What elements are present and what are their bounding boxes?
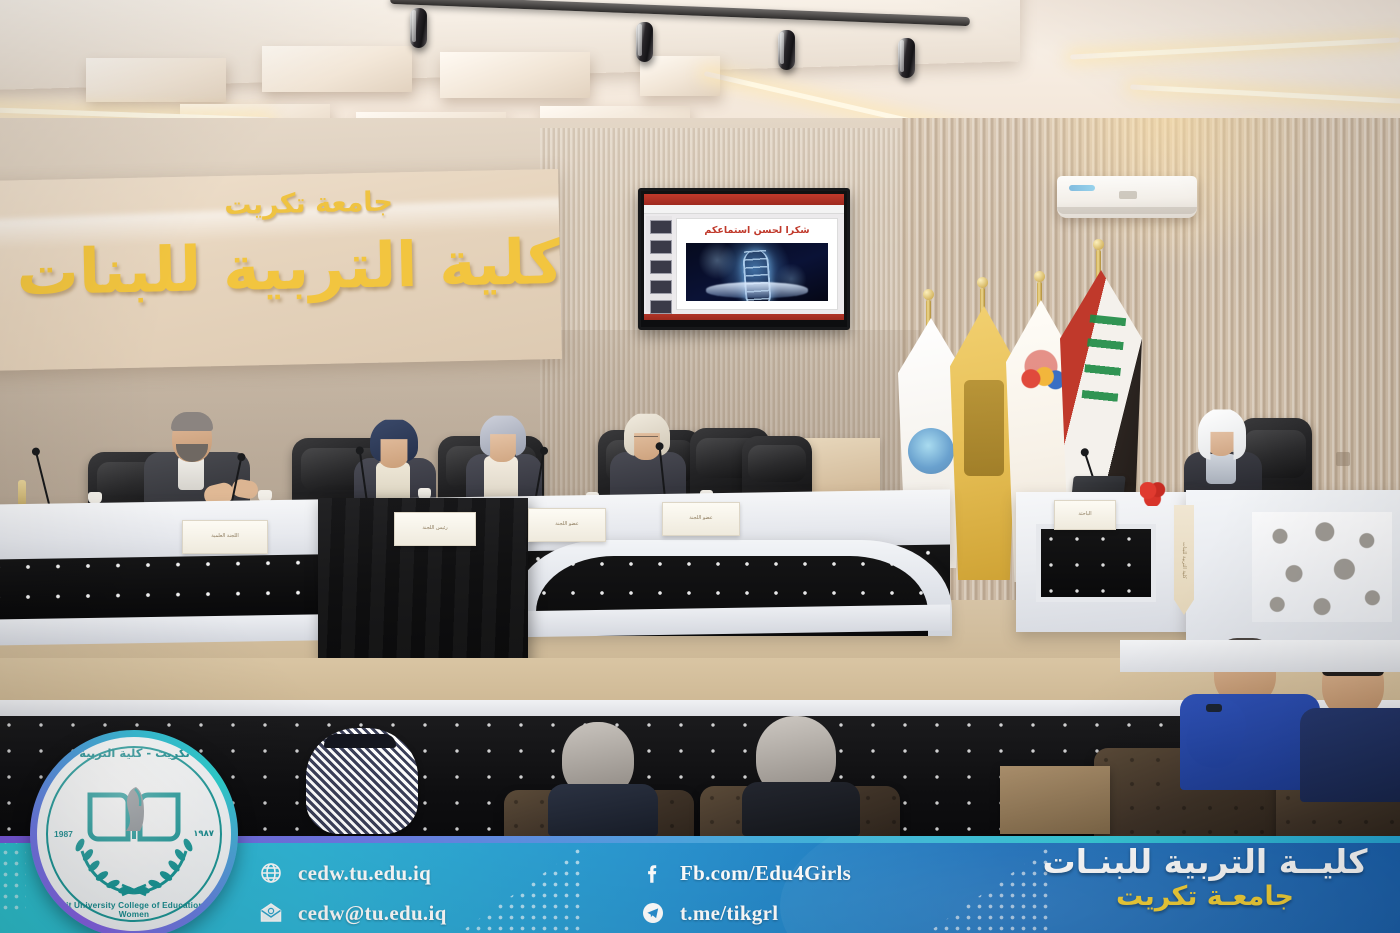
seal-english-text: Tikrit University College of Education f… bbox=[37, 901, 231, 919]
nameplate: عضو اللجنة bbox=[662, 502, 740, 536]
nameplate-text: اللجنة العلمية bbox=[211, 533, 239, 541]
brand-university-name: جامعـة تكريت bbox=[1030, 881, 1380, 912]
contact-email[interactable]: cedw@tu.edu.iq bbox=[258, 900, 447, 926]
water-bottle bbox=[18, 480, 26, 506]
cove-light-strip bbox=[1130, 84, 1400, 104]
slide-thumbnail bbox=[650, 260, 672, 274]
slide-app-ribbon bbox=[644, 194, 844, 205]
contact-column-social: Fb.com/Edu4Girls t.me/tikgrl bbox=[640, 860, 851, 926]
back-shelf bbox=[1120, 640, 1400, 672]
nameplate: اللجنة العلمية bbox=[182, 520, 268, 554]
projector-screen: شكرا لحسن استماعكم bbox=[638, 188, 850, 330]
flag-emblem-tikrit bbox=[964, 380, 1004, 476]
contact-facebook[interactable]: Fb.com/Edu4Girls bbox=[640, 860, 851, 886]
arabesque-cutwork-panel bbox=[1252, 512, 1392, 622]
photograph-canvas: جامعة تكريت كلية التربية للبنات شكرا لحس… bbox=[0, 0, 1400, 933]
attendee-suit-jacket bbox=[1300, 708, 1400, 802]
slide-title: شكرا لحسن استماعكم bbox=[677, 225, 837, 236]
email-address: cedw@tu.edu.iq bbox=[298, 901, 447, 926]
telegram-handle: t.me/tikgrl bbox=[680, 901, 778, 926]
ceiling bbox=[0, 0, 1400, 130]
footer-dot-pattern-left bbox=[462, 846, 582, 931]
ac-brand-badge bbox=[1119, 191, 1137, 199]
attendee-shoulders bbox=[548, 784, 658, 836]
keffiyeh-cord bbox=[324, 734, 396, 748]
active-slide: شكرا لحسن استماعكم bbox=[676, 218, 838, 310]
contact-telegram[interactable]: t.me/tikgrl bbox=[640, 900, 851, 926]
college-seal-logo: جامعة تكريت - كلية التربية للبنات Tikrit… bbox=[30, 730, 238, 933]
podium-studded-panel bbox=[1036, 524, 1156, 602]
email-icon bbox=[258, 900, 284, 926]
presentation-slide: شكرا لحسن استماعكم bbox=[644, 194, 844, 324]
hand-shape bbox=[706, 282, 808, 297]
slide-dna-image bbox=[686, 243, 828, 301]
wristwatch-icon bbox=[1206, 704, 1222, 712]
footer-brand: كليــة التربية للبنـات جامعـة تكريت bbox=[1030, 844, 1380, 912]
attendee-shoulders bbox=[742, 782, 860, 836]
brand-college-name: كليــة التربية للبنـات bbox=[1030, 844, 1380, 881]
nameplate-podium: الباحثة bbox=[1054, 500, 1116, 530]
wall-banner: جامعة تكريت كلية التربية للبنات bbox=[0, 169, 562, 371]
ac-display bbox=[1069, 185, 1095, 191]
spotlight bbox=[636, 22, 653, 62]
wall-socket bbox=[1336, 452, 1350, 466]
screen-bezel bbox=[641, 320, 847, 327]
nameplate-text: عضو اللجنة bbox=[689, 515, 712, 523]
banner-line-2: كلية التربية للبنات bbox=[0, 224, 562, 310]
globe-icon bbox=[258, 860, 284, 886]
laurel-wreath-icon bbox=[66, 821, 202, 899]
nameplate-text: الباحثة bbox=[1078, 511, 1091, 519]
presenter-collar bbox=[1206, 454, 1236, 484]
footer-dot-pattern-edge bbox=[0, 836, 26, 916]
seal-arabic-text: جامعة تكريت - كلية التربية للبنات bbox=[37, 746, 231, 760]
slide-app-toolbar bbox=[644, 205, 844, 214]
air-conditioner-unit bbox=[1057, 176, 1197, 218]
panelist-hair bbox=[171, 412, 213, 431]
seal-inner: جامعة تكريت - كلية التربية للبنات Tikrit… bbox=[37, 737, 231, 931]
ceiling-block bbox=[440, 52, 590, 98]
slide-thumbnail bbox=[650, 280, 672, 294]
ceiling-block bbox=[86, 58, 226, 102]
facebook-icon bbox=[640, 860, 666, 886]
spotlight bbox=[778, 30, 795, 70]
website-url: cedw.tu.edu.iq bbox=[298, 861, 431, 886]
eyeglasses-icon bbox=[634, 436, 658, 442]
spotlight bbox=[898, 38, 915, 78]
slide-thumbnail bbox=[650, 220, 672, 234]
attendee-blue-suit-2 bbox=[1300, 650, 1400, 800]
slide-thumbnail bbox=[650, 300, 672, 314]
audience-side-table bbox=[1000, 766, 1110, 834]
contact-column-web: cedw.tu.edu.iq cedw@tu.edu.iq bbox=[258, 860, 447, 926]
attendee-keffiyeh bbox=[300, 728, 430, 838]
spotlight bbox=[410, 8, 427, 48]
slide-thumbnail-rail bbox=[646, 216, 672, 312]
slide-thumbnail bbox=[650, 240, 672, 254]
nameplate-text: عضو اللجنة bbox=[555, 521, 578, 529]
podium-ribbon-label: كلية التربية للبنات bbox=[1174, 505, 1194, 615]
attendee-gray-haired-1 bbox=[548, 722, 658, 834]
podium-ribbon-text: كلية التربية للبنات bbox=[1181, 542, 1187, 579]
facebook-handle: Fb.com/Edu4Girls bbox=[680, 861, 851, 886]
attendee-gray-haired-2 bbox=[742, 716, 860, 834]
ceiling-block bbox=[262, 46, 412, 92]
nameplate-text: رئيس اللجنة bbox=[422, 525, 447, 533]
red-flower-decoration bbox=[1140, 482, 1166, 506]
cove-light-strip bbox=[1070, 37, 1400, 59]
nameplate: رئيس اللجنة bbox=[394, 512, 476, 546]
telegram-icon bbox=[640, 900, 666, 926]
nameplate: عضو اللجنة bbox=[528, 508, 606, 542]
contact-website[interactable]: cedw.tu.edu.iq bbox=[258, 860, 447, 886]
